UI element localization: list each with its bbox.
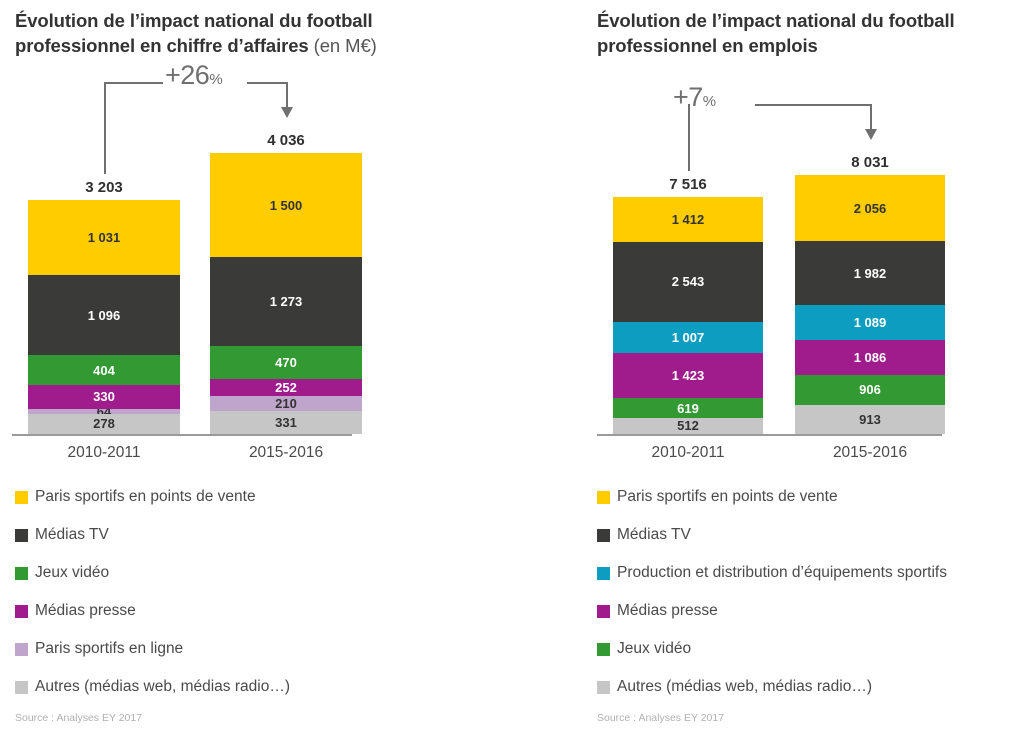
legend-swatch-icon bbox=[15, 605, 28, 618]
bar-segment-value: 512 bbox=[677, 419, 699, 432]
bar-segment: 278 bbox=[28, 414, 180, 434]
legend-item-label: Jeux vidéo bbox=[35, 564, 109, 582]
bar-segment: 1 007 bbox=[613, 322, 763, 354]
legend-swatch-icon bbox=[15, 567, 28, 580]
bar-segment: 470 bbox=[210, 346, 362, 379]
bar-segment: 404 bbox=[28, 355, 180, 385]
legend-swatch-icon bbox=[597, 529, 610, 542]
category-label: 2010-2011 bbox=[613, 444, 763, 462]
bar-segment-value: 619 bbox=[677, 402, 699, 415]
growth-percent-value: +26 bbox=[165, 60, 209, 90]
bar-segment: 331 bbox=[210, 411, 362, 434]
legend-item[interactable]: Médias presse bbox=[597, 592, 1026, 630]
bar-segment: 1 423 bbox=[613, 353, 763, 398]
bar-segment-value: 1 086 bbox=[854, 351, 887, 364]
bar-segment-value: 1 412 bbox=[672, 213, 705, 226]
legend-swatch-icon bbox=[597, 681, 610, 694]
bar-segment-value: 1 096 bbox=[88, 309, 121, 322]
bar-segment-value: 1 423 bbox=[672, 369, 705, 382]
legend-item-label: Jeux vidéo bbox=[617, 640, 691, 658]
bar-segment-value: 278 bbox=[93, 417, 115, 430]
legend-swatch-icon bbox=[597, 491, 610, 504]
bar-segment-value: 1 031 bbox=[88, 231, 121, 244]
legend-item-label: Paris sportifs en points de vente bbox=[35, 488, 256, 506]
bar-segment: 1 086 bbox=[795, 340, 945, 375]
bar-segment: 1 031 bbox=[28, 200, 180, 275]
growth-bracket-left-stem bbox=[688, 104, 690, 171]
legend-item-label: Médias presse bbox=[617, 602, 718, 620]
legend-item-label: Médias TV bbox=[35, 526, 109, 544]
category-label: 2015-2016 bbox=[210, 444, 362, 462]
growth-arrow-head bbox=[865, 129, 877, 140]
legend-item[interactable]: Autres (médias web, médias radio…) bbox=[597, 668, 1026, 706]
bar-total-label: 7 516 bbox=[613, 176, 763, 193]
bar-segment-value: 252 bbox=[275, 381, 297, 394]
bar-segment-value: 906 bbox=[859, 383, 881, 396]
bar-segment-value: 913 bbox=[859, 413, 881, 426]
bar-segment-value: 331 bbox=[275, 416, 297, 429]
bar-segment-value: 2 056 bbox=[854, 202, 887, 215]
legend-item[interactable]: Jeux vidéo bbox=[597, 630, 1026, 668]
legend-swatch-icon bbox=[597, 643, 610, 656]
legend-emplois: Paris sportifs en points de venteMédias … bbox=[597, 478, 1026, 706]
growth-percent-sign: % bbox=[209, 71, 222, 88]
growth-bracket-top-left bbox=[104, 82, 163, 84]
bar-segment-value: 1 982 bbox=[854, 267, 887, 280]
bar-segment: 512 bbox=[613, 418, 763, 434]
growth-percent-label: +7% bbox=[673, 82, 716, 113]
source-note: Source : Analyses EY 2017 bbox=[15, 712, 142, 724]
stacked-bar: 2 0561 9821 0891 086906913 bbox=[795, 175, 945, 434]
legend-item[interactable]: Médias TV bbox=[15, 516, 510, 554]
bar-segment: 1 096 bbox=[28, 275, 180, 355]
stacked-bar: 1 4122 5431 0071 423619512 bbox=[613, 197, 763, 434]
growth-arrow-head bbox=[281, 107, 293, 118]
axis-baseline bbox=[12, 434, 352, 436]
bar-segment: 210 bbox=[210, 396, 362, 411]
legend-item[interactable]: Médias presse bbox=[15, 592, 510, 630]
legend-swatch-icon bbox=[15, 681, 28, 694]
source-note: Source : Analyses EY 2017 bbox=[597, 712, 724, 724]
bar-segment-value: 210 bbox=[275, 397, 297, 410]
bar-segment: 1 273 bbox=[210, 257, 362, 346]
legend-item[interactable]: Jeux vidéo bbox=[15, 554, 510, 592]
bar-segment: 1 089 bbox=[795, 305, 945, 340]
bar-segment-value: 470 bbox=[275, 356, 297, 369]
bar-segment-value: 330 bbox=[93, 390, 115, 403]
bar-segment: 1 982 bbox=[795, 241, 945, 305]
bar-segment: 252 bbox=[210, 379, 362, 397]
infographic-page: Évolution de l’impact national du footba… bbox=[0, 0, 1026, 734]
axis-baseline bbox=[597, 434, 942, 436]
legend-item-label: Médias presse bbox=[35, 602, 136, 620]
legend-item-label: Autres (médias web, médias radio…) bbox=[617, 678, 872, 696]
stacked-bar: 1 0311 09640433064278 bbox=[28, 200, 180, 434]
bar-segment-value: 1 089 bbox=[854, 316, 887, 329]
bar-segment-value: 1 273 bbox=[270, 295, 303, 308]
legend-item[interactable]: Production et distribution d’équipements… bbox=[597, 554, 1026, 592]
bar-segment: 1 500 bbox=[210, 153, 362, 257]
category-label: 2015-2016 bbox=[795, 444, 945, 462]
legend-item[interactable]: Paris sportifs en ligne bbox=[15, 630, 510, 668]
bar-segment: 906 bbox=[795, 375, 945, 404]
bar-segment: 330 bbox=[28, 385, 180, 409]
bar-segment: 619 bbox=[613, 398, 763, 418]
legend-item[interactable]: Autres (médias web, médias radio…) bbox=[15, 668, 510, 706]
bar-segment: 1 412 bbox=[613, 197, 763, 242]
legend-item-label: Paris sportifs en points de vente bbox=[617, 488, 838, 506]
legend-chiffre-affaires: Paris sportifs en points de venteMédias … bbox=[15, 478, 510, 706]
legend-swatch-icon bbox=[15, 491, 28, 504]
legend-item[interactable]: Médias TV bbox=[597, 516, 1026, 554]
growth-bracket-top-right bbox=[755, 104, 870, 106]
legend-swatch-icon bbox=[597, 605, 610, 618]
growth-bracket-top-right bbox=[247, 82, 286, 84]
legend-item[interactable]: Paris sportifs en points de vente bbox=[597, 478, 1026, 516]
growth-percent-value: +7 bbox=[673, 82, 703, 112]
bar-total-label: 3 203 bbox=[28, 179, 180, 196]
panel-emplois: Évolution de l’impact national du footba… bbox=[513, 0, 1026, 734]
bar-segment-value: 404 bbox=[93, 364, 115, 377]
legend-item-label: Médias TV bbox=[617, 526, 691, 544]
bar-segment: 2 056 bbox=[795, 175, 945, 241]
legend-swatch-icon bbox=[597, 567, 610, 580]
bar-segment: 2 543 bbox=[613, 242, 763, 322]
bar-total-label: 4 036 bbox=[210, 132, 362, 149]
legend-swatch-icon bbox=[15, 643, 28, 656]
panel-chiffre-affaires: Évolution de l’impact national du footba… bbox=[0, 0, 513, 734]
legend-item[interactable]: Paris sportifs en points de vente bbox=[15, 478, 510, 516]
legend-item-label: Paris sportifs en ligne bbox=[35, 640, 183, 658]
growth-percent-sign: % bbox=[703, 93, 716, 110]
legend-item-label: Autres (médias web, médias radio…) bbox=[35, 678, 290, 696]
bar-segment-value: 1 500 bbox=[270, 199, 303, 212]
growth-bracket-right-stem bbox=[286, 82, 288, 107]
growth-bracket-left-stem bbox=[104, 82, 106, 174]
bar-total-label: 8 031 bbox=[795, 154, 945, 171]
bar-segment-value: 2 543 bbox=[672, 275, 705, 288]
bar-segment-value: 1 007 bbox=[672, 331, 705, 344]
chart-area-chiffre-affaires: 1 0311 096404330642783 2032010-20111 500… bbox=[0, 0, 513, 470]
bar-segment: 913 bbox=[795, 405, 945, 434]
growth-bracket-right-stem bbox=[870, 104, 872, 129]
legend-item-label: Production et distribution d’équipements… bbox=[617, 564, 947, 582]
chart-area-emplois: 1 4122 5431 0071 4236195127 5162010-2011… bbox=[513, 0, 1026, 470]
legend-swatch-icon bbox=[15, 529, 28, 542]
category-label: 2010-2011 bbox=[28, 444, 180, 462]
stacked-bar: 1 5001 273470252210331 bbox=[210, 153, 362, 434]
growth-percent-label: +26% bbox=[165, 60, 222, 91]
